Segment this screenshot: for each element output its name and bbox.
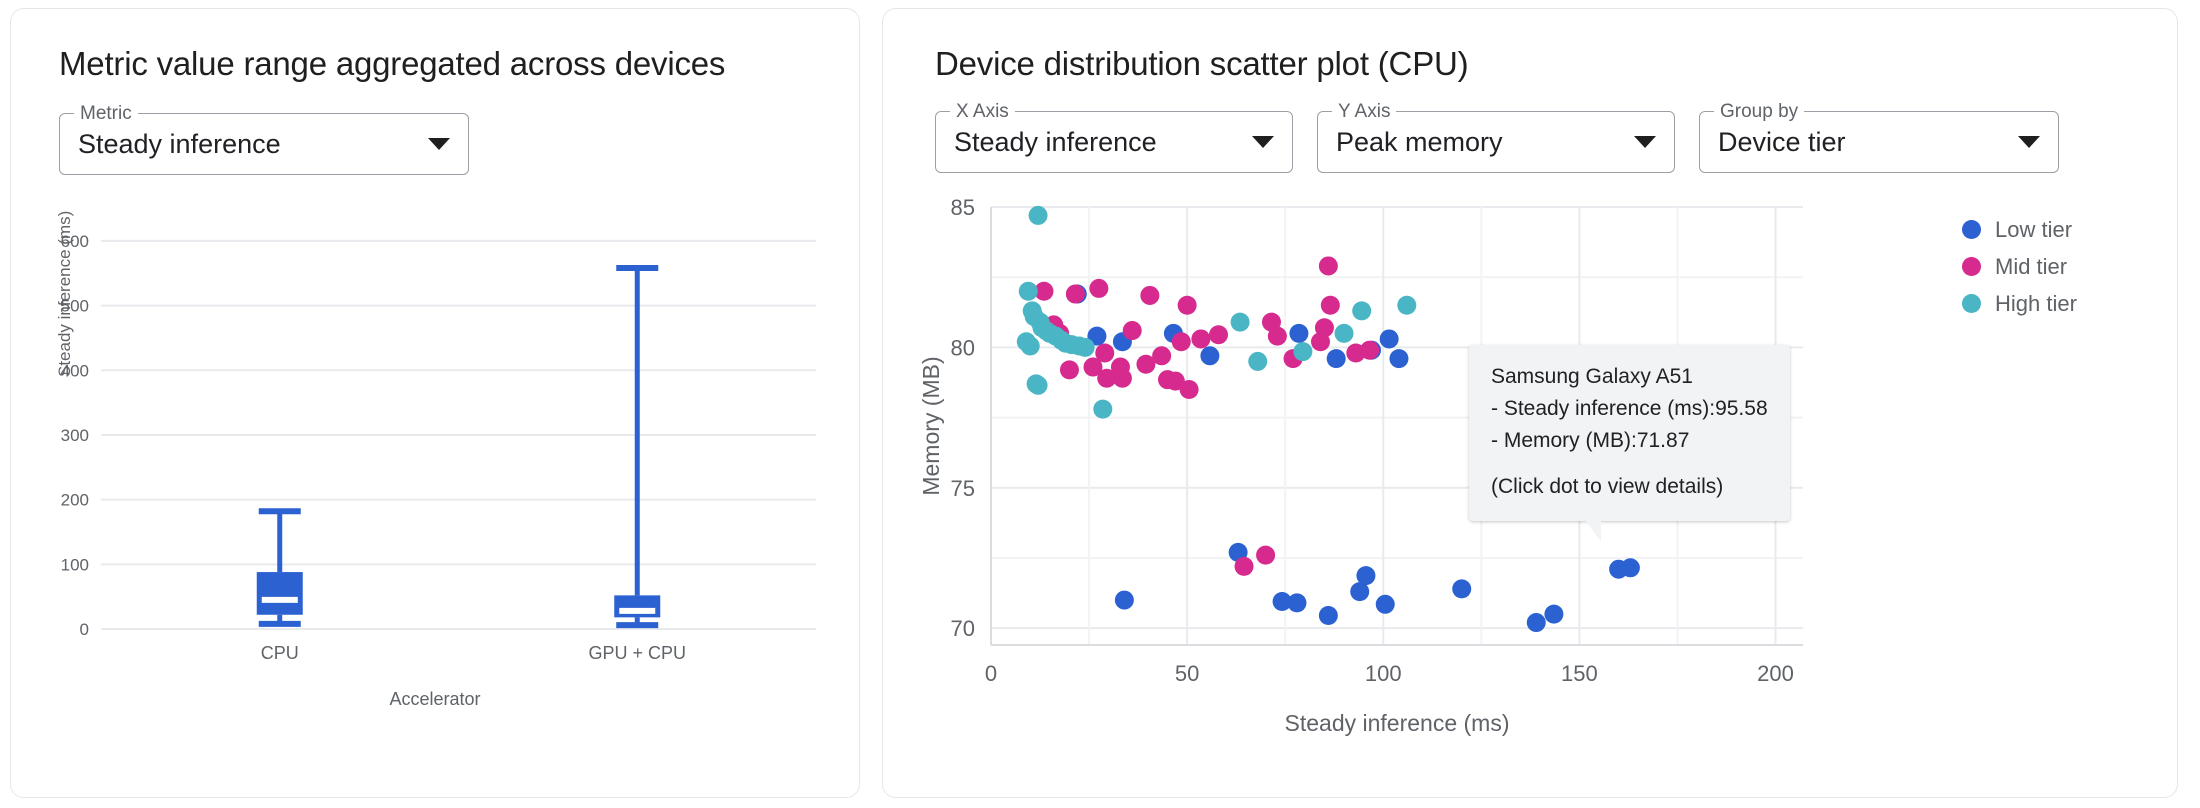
x-axis-select-label: X Axis	[950, 101, 1015, 123]
scatter-point[interactable]	[1293, 342, 1312, 361]
scatter-point[interactable]	[1248, 352, 1267, 371]
scatter-point[interactable]	[1389, 349, 1408, 368]
scatter-point[interactable]	[1319, 256, 1338, 275]
tooltip-steady-inference: - Steady inference (ms):95.58	[1491, 393, 1768, 425]
scatter-point[interactable]	[1376, 595, 1395, 614]
group-by-select-value: Device tier	[1718, 127, 2006, 158]
scatter-point[interactable]	[1621, 558, 1640, 577]
scatter-point[interactable]	[1060, 360, 1079, 379]
y-axis-tick-label: 0	[80, 620, 89, 639]
y-axis-tick-label: 75	[951, 476, 975, 501]
metric-select[interactable]: Metric Steady inference	[59, 113, 469, 175]
dashboard-root: Metric value range aggregated across dev…	[0, 0, 2200, 808]
tooltip-memory: - Memory (MB):71.87	[1491, 425, 1768, 457]
metric-select-label: Metric	[74, 103, 138, 125]
x-axis-select-value: Steady inference	[954, 127, 1240, 158]
scatter-plot-chart: 70758085050100150200Steady inference (ms…	[913, 193, 2147, 808]
page-title-left: Metric value range aggregated across dev…	[59, 45, 829, 83]
scatter-point[interactable]	[1231, 313, 1250, 332]
scatter-point[interactable]	[1289, 324, 1308, 343]
scatter-legend: Low tierMid tierHigh tier	[1962, 211, 2137, 322]
scatter-point[interactable]	[1319, 606, 1338, 625]
scatter-point[interactable]	[1397, 296, 1416, 315]
box-plot-y-axis-label: Steady inference (ms)	[55, 211, 75, 377]
scatter-point[interactable]	[1140, 286, 1159, 305]
tooltip-tail	[1585, 520, 1601, 542]
scatter-point[interactable]	[1115, 591, 1134, 610]
y-axis-select-label: Y Axis	[1332, 101, 1396, 123]
scatter-point[interactable]	[1527, 613, 1546, 632]
scatter-point[interactable]	[1380, 329, 1399, 348]
scatter-point[interactable]	[1178, 296, 1197, 315]
scatter-plot-card: Device distribution scatter plot (CPU) X…	[882, 8, 2178, 798]
legend-color-dot	[1962, 257, 1981, 276]
y-axis-tick-label: 200	[61, 491, 89, 510]
box-plot-x-axis-label: Accelerator	[41, 689, 829, 710]
legend-color-dot	[1962, 294, 1981, 313]
scatter-point[interactable]	[1029, 376, 1048, 395]
scatter-point[interactable]	[1113, 369, 1132, 388]
box-plot-chart: Steady inference (ms) 010020030040050060…	[41, 197, 829, 737]
scatter-point[interactable]	[1191, 329, 1210, 348]
scatter-plot-svg[interactable]: 70758085050100150200Steady inference (ms…	[913, 193, 1973, 773]
scatter-point[interactable]	[1172, 332, 1191, 351]
chevron-down-icon	[428, 138, 450, 150]
chevron-down-icon	[2018, 136, 2040, 148]
x-axis-tick-label: 100	[1365, 661, 1402, 686]
group-by-select-label: Group by	[1714, 101, 1804, 123]
scatter-point[interactable]	[1158, 370, 1177, 389]
x-axis-category-label: CPU	[261, 643, 299, 663]
chevron-down-icon	[1634, 136, 1656, 148]
legend-item[interactable]: High tier	[1962, 285, 2137, 322]
scatter-y-axis-label: Memory (MB)	[918, 356, 944, 495]
y-axis-tick-label: 300	[61, 426, 89, 445]
scatter-point[interactable]	[1311, 332, 1330, 351]
x-axis-tick-label: 200	[1757, 661, 1794, 686]
scatter-point[interactable]	[1544, 605, 1563, 624]
y-axis-tick-label: 100	[61, 555, 89, 574]
scatter-point[interactable]	[1352, 301, 1371, 320]
scatter-point[interactable]	[1287, 593, 1306, 612]
x-axis-category-label: GPU + CPU	[588, 643, 686, 663]
scatter-point[interactable]	[1209, 325, 1228, 344]
chevron-down-icon	[1252, 136, 1274, 148]
scatter-point[interactable]	[1089, 279, 1108, 298]
y-axis-tick-label: 70	[951, 616, 975, 641]
box-plot-box[interactable]	[257, 511, 303, 624]
x-axis-tick-label: 0	[985, 661, 997, 686]
scatter-point[interactable]	[1021, 336, 1040, 355]
box-plot-box[interactable]	[614, 268, 660, 625]
x-axis-tick-label: 150	[1561, 661, 1598, 686]
scatter-point[interactable]	[1235, 557, 1254, 576]
scatter-point[interactable]	[1093, 400, 1112, 419]
page-title-right: Device distribution scatter plot (CPU)	[935, 45, 2147, 83]
x-axis-tick-label: 50	[1175, 661, 1199, 686]
legend-item[interactable]: Mid tier	[1962, 248, 2137, 285]
legend-item[interactable]: Low tier	[1962, 211, 2137, 248]
scatter-x-axis-label: Steady inference (ms)	[1285, 710, 1510, 736]
scatter-point[interactable]	[1452, 579, 1471, 598]
scatter-point[interactable]	[1066, 285, 1085, 304]
scatter-point[interactable]	[1136, 355, 1155, 374]
x-axis-select[interactable]: X Axis Steady inference	[935, 111, 1293, 173]
group-by-select[interactable]: Group by Device tier	[1699, 111, 2059, 173]
scatter-point[interactable]	[1180, 380, 1199, 399]
scatter-point[interactable]	[1200, 346, 1219, 365]
scatter-point[interactable]	[1335, 324, 1354, 343]
scatter-point[interactable]	[1346, 344, 1365, 363]
scatter-controls: X Axis Steady inference Y Axis Peak memo…	[935, 111, 2147, 173]
scatter-point[interactable]	[1327, 349, 1346, 368]
y-axis-select-value: Peak memory	[1336, 127, 1622, 158]
scatter-point[interactable]	[1356, 566, 1375, 585]
tooltip-hint: (Click dot to view details)	[1491, 471, 1768, 503]
legend-item-label: Mid tier	[1995, 254, 2067, 280]
scatter-point[interactable]	[1321, 296, 1340, 315]
scatter-point[interactable]	[1256, 546, 1275, 565]
scatter-point[interactable]	[1019, 282, 1038, 301]
y-axis-tick-label: 80	[951, 335, 975, 360]
legend-item-label: Low tier	[1995, 217, 2072, 243]
tooltip-device-name: Samsung Galaxy A51	[1491, 361, 1768, 393]
scatter-point[interactable]	[1123, 321, 1142, 340]
legend-color-dot	[1962, 220, 1981, 239]
scatter-tooltip: Samsung Galaxy A51 - Steady inference (m…	[1469, 345, 1790, 521]
scatter-point[interactable]	[1029, 206, 1048, 225]
scatter-point[interactable]	[1076, 338, 1095, 357]
legend-item-label: High tier	[1995, 291, 2077, 317]
metric-select-value: Steady inference	[78, 129, 416, 160]
scatter-point[interactable]	[1268, 327, 1287, 346]
metric-range-card: Metric value range aggregated across dev…	[10, 8, 860, 798]
y-axis-select[interactable]: Y Axis Peak memory	[1317, 111, 1675, 173]
y-axis-tick-label: 85	[951, 195, 975, 220]
box-plot-svg: 0100200300400500600CPUGPU + CPU	[41, 197, 831, 697]
